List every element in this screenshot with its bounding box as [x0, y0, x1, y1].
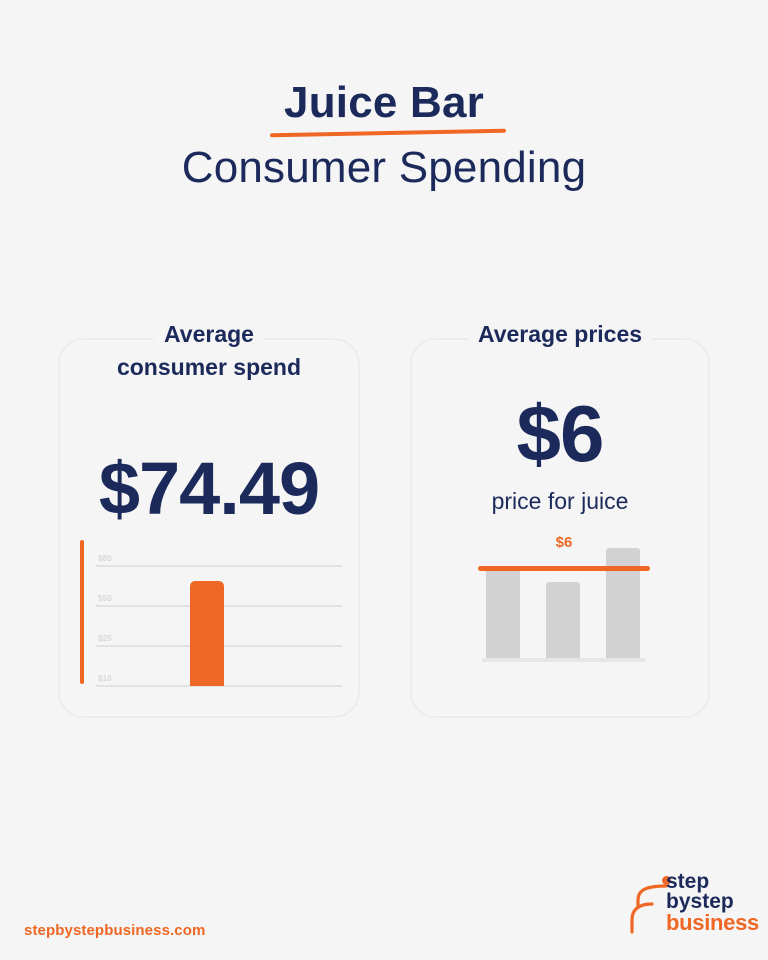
bar-average-spend: [190, 581, 224, 686]
logo-word-business: business: [666, 910, 759, 935]
card-average-prices: Average prices $6 price for juice $6: [410, 338, 710, 718]
title-main: Juice Bar: [284, 78, 484, 127]
title-main-wrapper: Juice Bar: [284, 78, 484, 127]
y-tick-label-25: $25: [98, 634, 112, 643]
price-reference-line: [478, 566, 650, 571]
y-tick-label-10: $10: [98, 674, 112, 683]
title-underline: [270, 129, 506, 138]
chart-y-axis: [80, 540, 84, 684]
logo-text: step bystep business: [666, 872, 748, 934]
stat-average-price: $6: [412, 388, 708, 480]
logo-row-3: business: [666, 912, 748, 933]
card-average-consumer-spend: Average consumer spend $74.49 $80 $50 $2…: [58, 338, 360, 718]
card-right-heading-line1: Average prices: [468, 318, 652, 351]
card-left-heading: Average consumer spend: [60, 318, 358, 383]
y-tick-label-80: $80: [98, 554, 112, 563]
page-title: Juice Bar Consumer Spending: [0, 78, 768, 193]
chart-average-consumer-spend: $80 $50 $25 $10: [80, 538, 342, 690]
stat-average-price-caption: price for juice: [412, 488, 708, 515]
logo-row-1: step: [666, 872, 748, 892]
stat-average-consumer-spend: $74.49: [60, 446, 358, 531]
card-left-heading-line2: consumer spend: [107, 351, 311, 384]
infographic-canvas: Juice Bar Consumer Spending Average cons…: [0, 0, 768, 960]
y-tick-label-50: $50: [98, 594, 112, 603]
bar-price-3: [606, 548, 640, 658]
bar-price-1: [486, 568, 520, 658]
card-left-heading-line1: Average: [154, 318, 264, 351]
bar-price-2: [546, 582, 580, 658]
logo[interactable]: step bystep business: [626, 872, 746, 938]
logo-swoosh-icon: [626, 880, 670, 936]
gridline-1: [96, 565, 342, 567]
card-right-heading: Average prices: [412, 318, 708, 351]
chart-average-prices: $6: [478, 536, 650, 666]
logo-row-2: bystep: [666, 892, 748, 912]
site-url[interactable]: stepbystepbusiness.com: [24, 922, 205, 939]
title-subtitle: Consumer Spending: [0, 143, 768, 192]
chart-baseline: [482, 658, 646, 662]
